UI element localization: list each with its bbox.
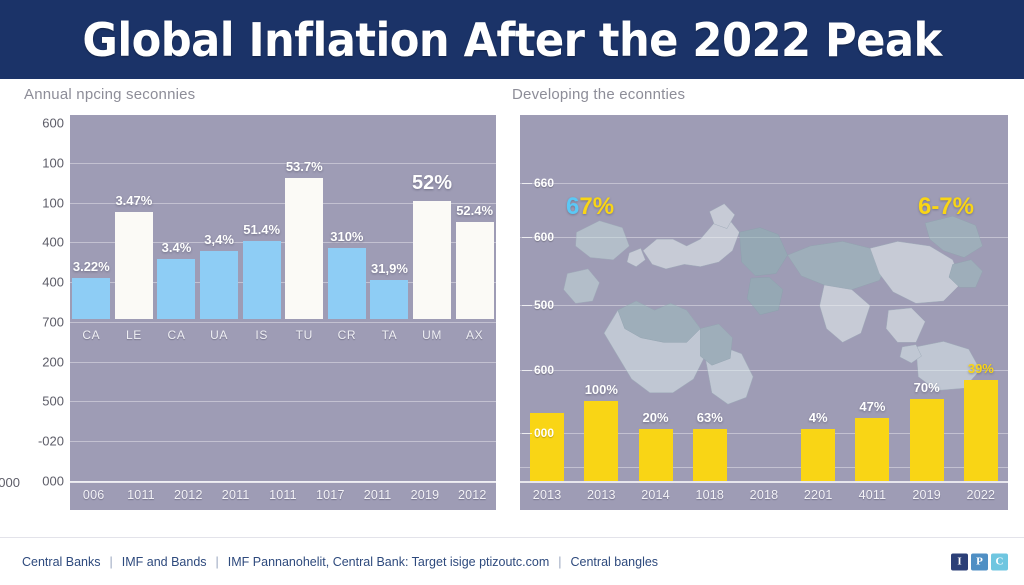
bar-slot: 310%: [326, 115, 369, 510]
x-tick-label: 2012: [450, 488, 494, 502]
left-chart-y-tick-label: 400: [42, 275, 64, 290]
left-chart-y-tick-label: 400: [42, 235, 64, 250]
left-chart-panel: Annual npcing seconnies 6001001004004007…: [24, 86, 496, 510]
right-chart-baseline: [520, 481, 1008, 483]
logo-letter-p: P: [971, 553, 988, 570]
x-tick-label: 2019: [905, 488, 949, 502]
footer-note[interactable]: IMF Pannanohelit, Central Bank: Target i…: [228, 555, 549, 569]
slide-header: Global Inflation After the 2022 Peak: [0, 0, 1024, 79]
bar-value-label: 51.4%: [243, 222, 280, 237]
x-tick-label: 1011: [261, 488, 305, 502]
category-label: TA: [370, 328, 408, 342]
category-label: TU: [285, 328, 323, 342]
slide-canvas: Global Inflation After the 2022 Peak Ann…: [0, 0, 1024, 585]
bar[interactable]: 3.4%: [157, 259, 195, 319]
left-chart-plot-area: 3.22%3.47%3.4%3,4%51.4%53.7%310%31,9%52%…: [70, 115, 496, 510]
bar-value-label: 3,4%: [204, 232, 234, 247]
footer-source-notes: Central Banks|IMF and Bands|IMF Pannanoh…: [22, 555, 658, 569]
callout-left: 67%: [566, 193, 614, 221]
bar-slot: [737, 115, 791, 510]
category-label: CA: [72, 328, 110, 342]
right-chart-y-tick-label: 660: [534, 176, 554, 190]
left-chart-y-axis: 600100100400400700200500-020000: [24, 115, 70, 510]
footer-separator: |: [549, 555, 570, 569]
bar[interactable]: 310%: [328, 248, 366, 319]
bar-value-label: 63%: [697, 410, 723, 425]
x-tick-label: 2011: [356, 488, 400, 502]
category-label: AX: [456, 328, 494, 342]
bar-slot: 53.7%: [283, 115, 326, 510]
x-tick-label: 2012: [166, 488, 210, 502]
footer-note[interactable]: Central bangles: [571, 555, 659, 569]
category-label: UA: [200, 328, 238, 342]
footer-separator: |: [101, 555, 122, 569]
x-tick-label: 2022: [959, 488, 1003, 502]
bar-value-label: 47%: [859, 399, 885, 414]
bar-slot: 52.4%: [453, 115, 496, 510]
left-chart-y-tick-label: 100: [42, 195, 64, 210]
slide-footer: Central Banks|IMF and Bands|IMF Pannanoh…: [0, 537, 1024, 585]
bar-value-label: 100%: [585, 382, 618, 397]
footer-note[interactable]: Central Banks: [22, 555, 101, 569]
left-chart-y-tick-label: 000: [42, 474, 64, 489]
bar[interactable]: 52%: [413, 201, 451, 319]
x-tick-label: 2019: [403, 488, 447, 502]
x-tick-label: 2201: [796, 488, 840, 502]
bar-slot: 39%: [954, 115, 1008, 510]
bar-slot: 3.47%: [113, 115, 156, 510]
bar-value-label: 310%: [330, 229, 363, 244]
bar[interactable]: 52.4%: [456, 222, 494, 319]
bar[interactable]: 39%: [964, 380, 998, 481]
footer-separator: |: [207, 555, 228, 569]
right-chart-plot-area: 100%20%63%4%47%70%39% 660600500600000 67…: [520, 115, 1008, 510]
bar-value-label: 4%: [809, 410, 828, 425]
category-label: LE: [115, 328, 153, 342]
bar[interactable]: 3.47%: [115, 212, 153, 319]
bar-slot: 63%: [683, 115, 737, 510]
bar-slot: 3,4%: [198, 115, 241, 510]
category-label: IS: [243, 328, 281, 342]
bar-slot: 70%: [900, 115, 954, 510]
left-chart-y-tick-label: 200: [42, 354, 64, 369]
x-tick-label: 2013: [579, 488, 623, 502]
bar-value-label: 3.22%: [73, 259, 110, 274]
left-chart-category-labels: CALECAUAISTUCRTAUMAX: [70, 324, 496, 346]
x-tick-label: 006: [72, 488, 116, 502]
bar-value-label: 20%: [643, 410, 669, 425]
left-chart-title: Annual npcing seconnies: [24, 86, 496, 106]
bar[interactable]: [530, 413, 564, 481]
bar-slot: 100%: [574, 115, 628, 510]
y-tick-mark: [522, 237, 532, 238]
left-chart-y-tick-label: 500: [42, 394, 64, 409]
left-chart-bars: 3.22%3.47%3.4%3,4%51.4%53.7%310%31,9%52%…: [70, 115, 496, 510]
y-tick-mark: [522, 433, 532, 434]
bar[interactable]: 20%: [639, 429, 673, 481]
logo-letter-i: I: [951, 553, 968, 570]
bar-value-label: 52%: [412, 172, 452, 195]
page-title: Global Inflation After the 2022 Peak: [82, 13, 941, 67]
right-chart-y-tick-label: 600: [534, 363, 554, 377]
category-label: CA: [157, 328, 195, 342]
x-tick-label: 4011: [850, 488, 894, 502]
callout-left-rest: 7%: [579, 193, 614, 220]
bar[interactable]: 47%: [855, 418, 889, 481]
bar-value-label: 39%: [968, 361, 994, 376]
logo-letter-c: C: [991, 553, 1008, 570]
bar-slot: 4%: [791, 115, 845, 510]
bar-value-label: 70%: [914, 380, 940, 395]
bar-slot: 3.4%: [155, 115, 198, 510]
left-chart-zero-label: 000: [0, 475, 20, 490]
bar-slot: [520, 115, 574, 510]
bar[interactable]: 70%: [910, 399, 944, 481]
callout-right: 6-7%: [918, 193, 974, 221]
bar-value-label: 52.4%: [456, 203, 493, 218]
right-chart-y-tick-label: 500: [534, 298, 554, 312]
bar[interactable]: 63%: [693, 429, 727, 481]
x-tick-label: 1017: [308, 488, 352, 502]
bar-slot: 52%: [411, 115, 454, 510]
bar[interactable]: 3.22%: [72, 278, 110, 319]
x-tick-label: 1011: [119, 488, 163, 502]
right-chart-bars: 100%20%63%4%47%70%39%: [520, 115, 1008, 510]
bar[interactable]: 4%: [801, 429, 835, 481]
right-chart-panel: Developing the econnties: [512, 86, 1008, 510]
left-chart-y-tick-label: -020: [38, 434, 64, 449]
x-tick-label: 2014: [634, 488, 678, 502]
footer-note[interactable]: IMF and Bands: [122, 555, 207, 569]
left-chart-y-tick-label: 600: [42, 116, 64, 131]
category-label: CR: [328, 328, 366, 342]
callout-left-digit: 6: [566, 193, 579, 220]
right-chart-y-tick-label: 000: [534, 426, 554, 440]
x-tick-label: 2018: [742, 488, 786, 502]
bar[interactable]: 100%: [584, 401, 618, 481]
bar[interactable]: 3,4%: [200, 251, 238, 319]
bar-slot: 31,9%: [368, 115, 411, 510]
y-tick-mark: [522, 370, 532, 371]
y-tick-mark: [522, 183, 532, 184]
x-tick-label: 2013: [525, 488, 569, 502]
category-label: UM: [413, 328, 451, 342]
left-chart-y-tick-label: 100: [42, 155, 64, 170]
x-tick-label: 1018: [688, 488, 732, 502]
bar-value-label: 3.4%: [162, 240, 192, 255]
x-tick-label: 2011: [214, 488, 258, 502]
left-chart-y-tick-label: 700: [42, 314, 64, 329]
bar-value-label: 53.7%: [286, 159, 323, 174]
bar-value-label: 31,9%: [371, 261, 408, 276]
right-chart-x-labels: 201320132014101820182201401120192022: [520, 484, 1008, 506]
right-chart-y-tick-label: 600: [534, 230, 554, 244]
bar-value-label: 3.47%: [115, 193, 152, 208]
left-chart-x-labels: 00610112012201110111017201120192012: [70, 484, 496, 506]
bar-slot: 47%: [845, 115, 899, 510]
bar-slot: 20%: [628, 115, 682, 510]
right-chart-title: Developing the econnties: [512, 86, 1008, 106]
ipc-logo: IPC: [951, 553, 1008, 570]
bar[interactable]: 53.7%: [285, 178, 323, 319]
y-tick-mark: [522, 305, 532, 306]
bar[interactable]: 31,9%: [370, 280, 408, 319]
bar-slot: 3.22%: [70, 115, 113, 510]
bar-slot: 51.4%: [240, 115, 283, 510]
bar[interactable]: 51.4%: [243, 241, 281, 319]
